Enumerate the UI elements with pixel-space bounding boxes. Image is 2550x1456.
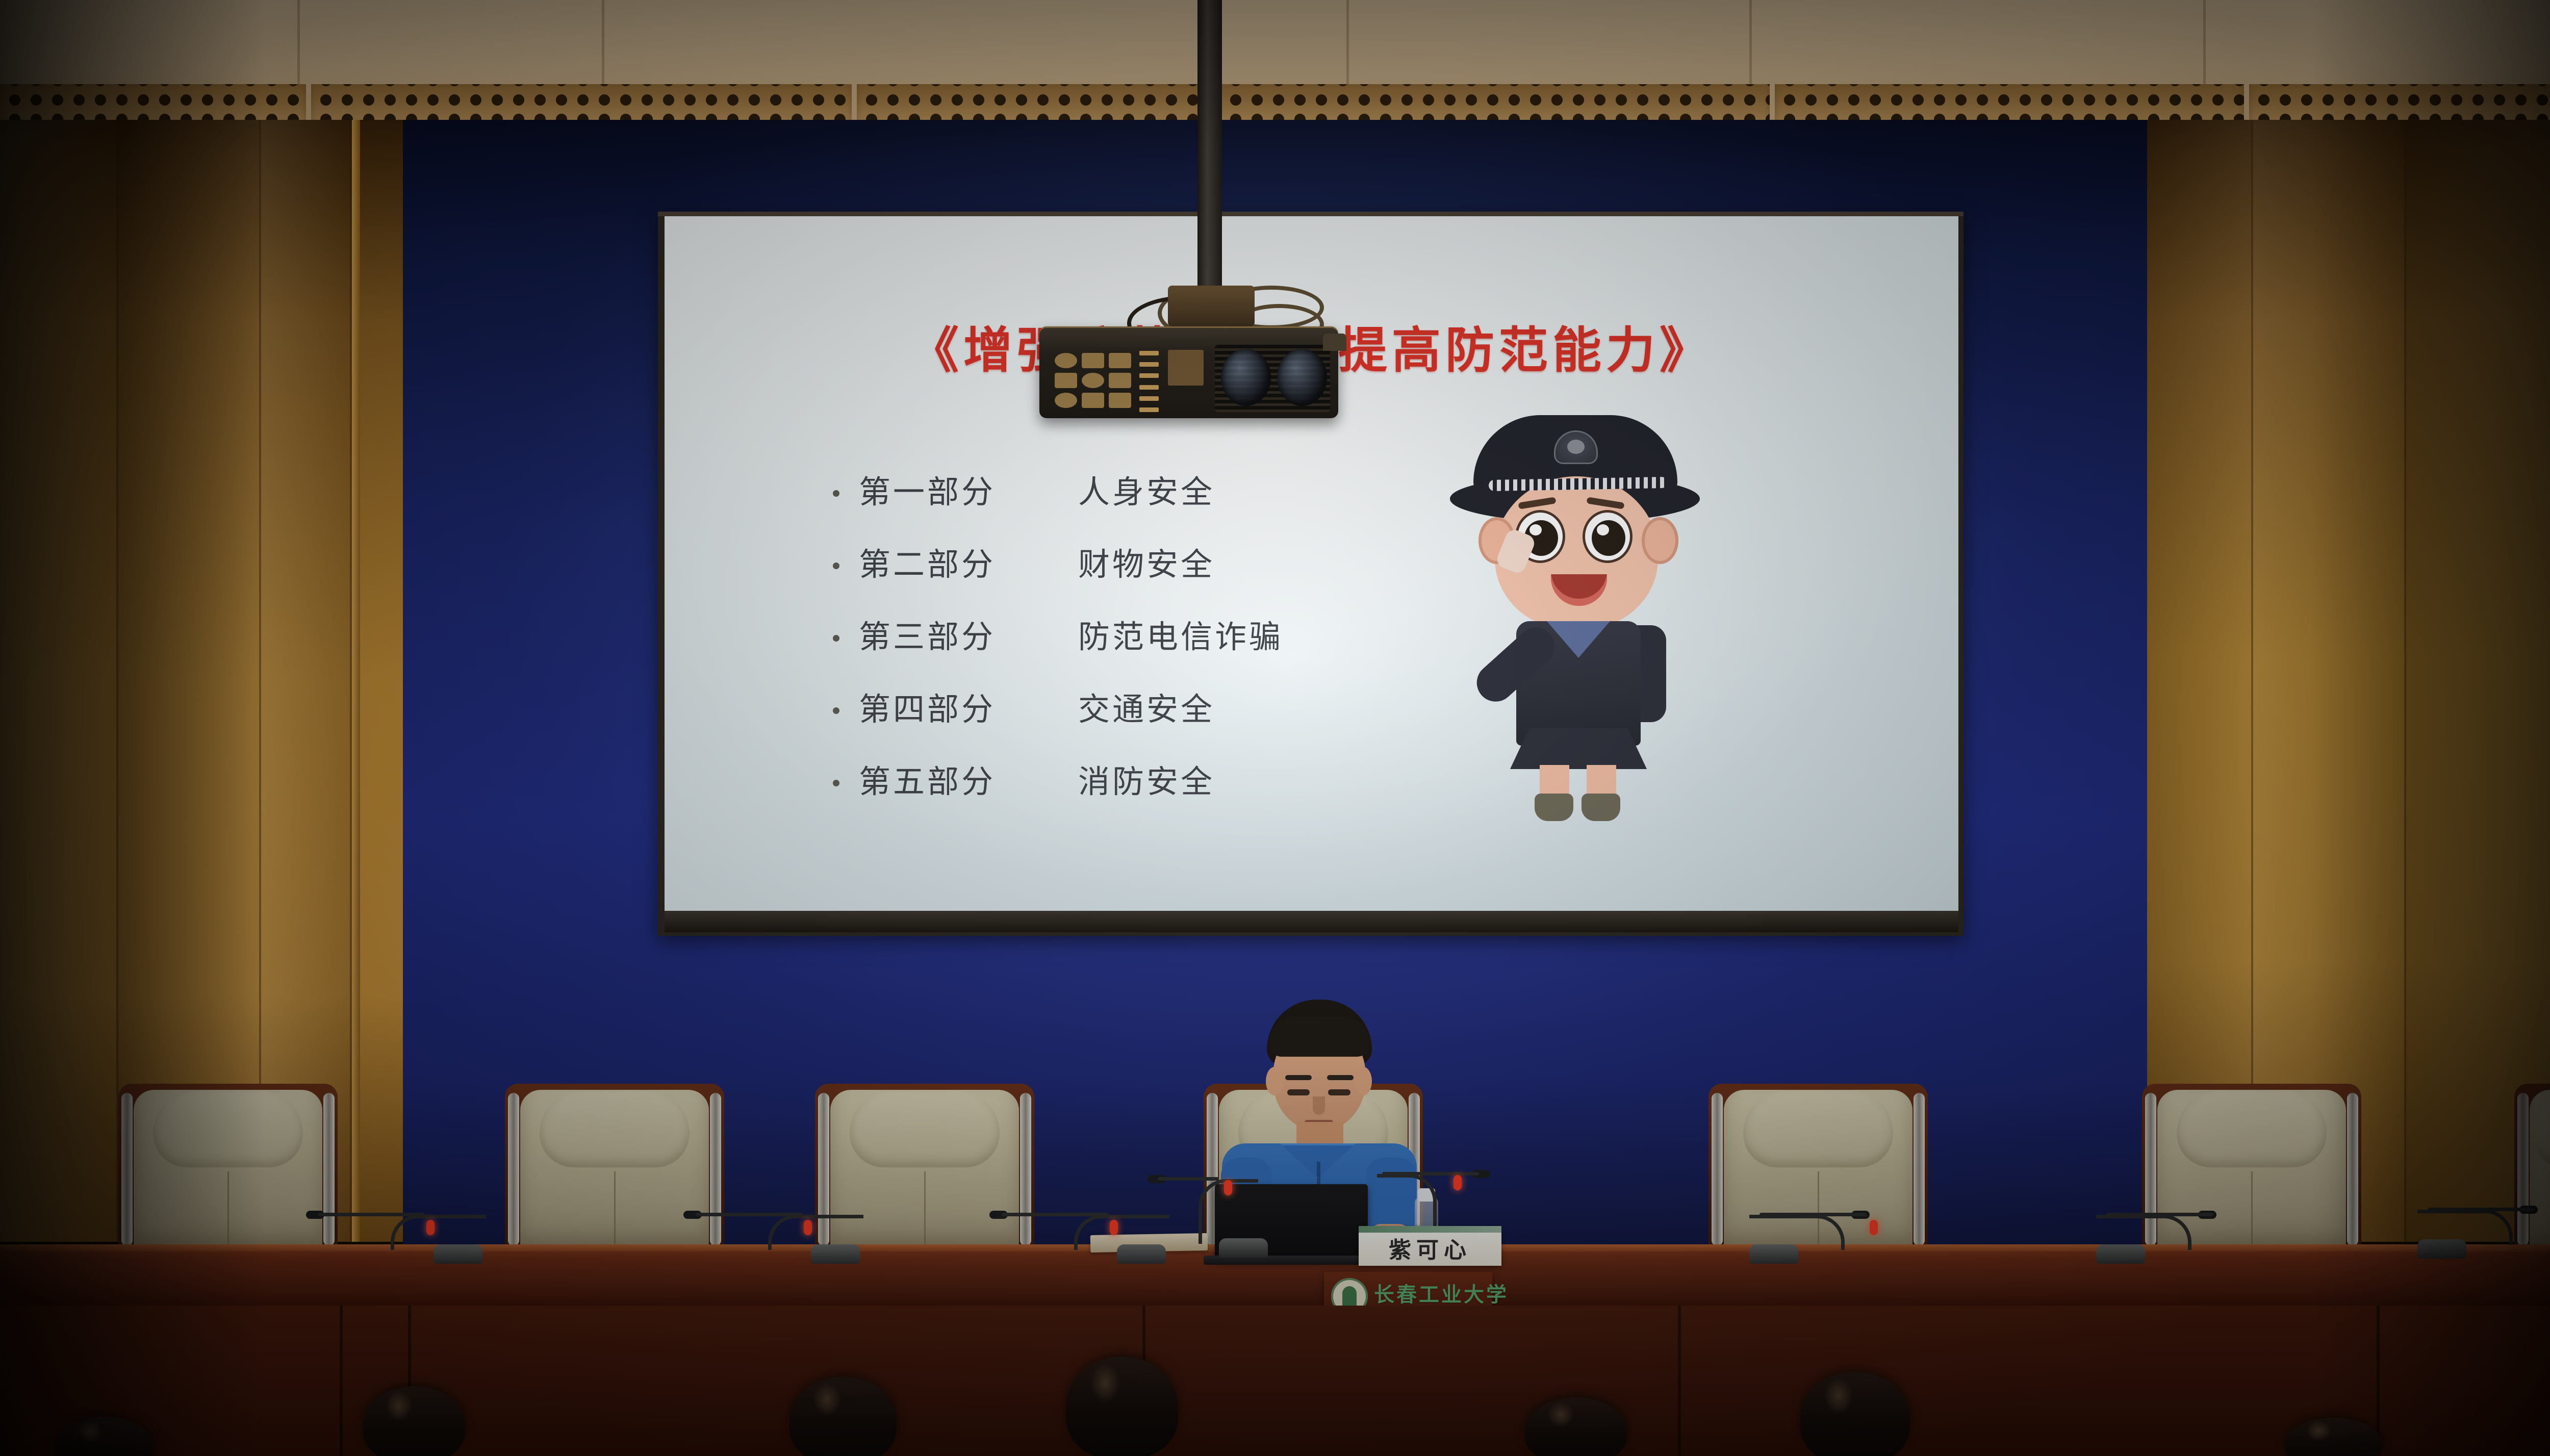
list-item: 第二部分 财物安全 [833, 539, 1470, 584]
bullet-part-label: 第五部分 [859, 756, 1078, 802]
projector-bracket [1168, 286, 1255, 326]
name-card-text: 紫可心 [1389, 1232, 1471, 1264]
chair-partial-right [2514, 1084, 2550, 1252]
bullet-topic-label: 消防安全 [1078, 756, 1215, 802]
bullet-part-label: 第二部分 [859, 539, 1078, 584]
wall-panels-right [2137, 120, 2550, 1242]
chair [505, 1084, 724, 1252]
screen-bottom-bar [665, 911, 1958, 932]
lecture-hall-photo: 《增强防范意识，提高防范能力》 第一部分 人身安全 第二部分 财物安全 第三部分… [0, 0, 2550, 1456]
bullet-topic-label: 人身安全 [1078, 466, 1215, 512]
list-item: 第一部分 人身安全 [833, 466, 1470, 512]
slide-bullet-list: 第一部分 人身安全 第二部分 财物安全 第三部分 防范电信诈骗 第四部分 交通安… [833, 466, 1470, 828]
list-item: 第三部分 防范电信诈骗 [833, 611, 1470, 657]
name-card-strip [1359, 1226, 1501, 1233]
bullet-dot-icon [833, 707, 839, 714]
audience-head [1066, 1357, 1178, 1456]
audience-head [1800, 1372, 1910, 1456]
projector-lens-icon [1277, 349, 1327, 406]
bullet-topic-label: 防范电信诈骗 [1078, 611, 1283, 657]
audience-head [363, 1386, 465, 1456]
bullet-part-label: 第一部分 [859, 466, 1078, 512]
bullet-dot-icon [833, 780, 839, 786]
ceiling-projector [1039, 326, 1338, 418]
police-mascot-icon [1445, 415, 1710, 782]
bullet-dot-icon [833, 563, 839, 569]
bullet-dot-icon [833, 490, 839, 497]
projector-mount-pole [1197, 0, 1222, 306]
projector-lens-icon [1221, 349, 1271, 406]
list-item: 第五部分 消防安全 [833, 756, 1470, 802]
projector-keypad [1055, 353, 1131, 408]
projector-status-leds [1139, 351, 1159, 412]
screen-top-lip [658, 212, 1963, 216]
wall-panels-left [0, 120, 418, 1242]
bullet-topic-label: 交通安全 [1078, 683, 1215, 729]
projector-label [1168, 350, 1204, 386]
list-item: 第四部分 交通安全 [833, 683, 1470, 729]
projector-focus-knob [1323, 334, 1346, 351]
bullet-part-label: 第四部分 [859, 683, 1078, 729]
bullet-dot-icon [833, 635, 839, 642]
name-card: 紫可心 [1359, 1226, 1501, 1266]
bullet-topic-label: 财物安全 [1078, 539, 1215, 584]
bullet-part-label: 第三部分 [859, 611, 1078, 657]
plaque-chinese-name: 长春工业大学 [1374, 1278, 1509, 1308]
chair [118, 1084, 338, 1252]
